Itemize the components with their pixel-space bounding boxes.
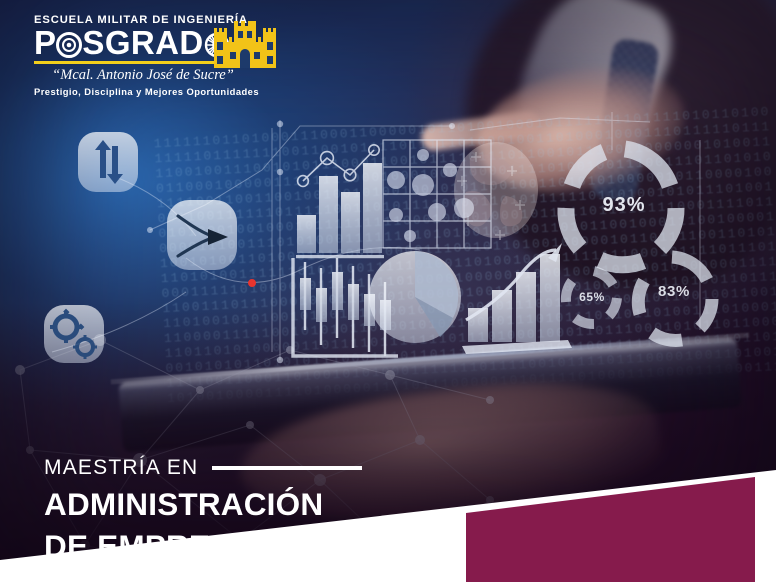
- promo-poster: 1111110110100011100011000001011010010001…: [0, 0, 776, 582]
- logo-wordmark-pre: P: [34, 26, 56, 60]
- logo-yellow-rule: [34, 61, 244, 64]
- program-kicker-row: MAESTRÍA EN: [44, 456, 362, 480]
- pie-chart: [369, 251, 461, 343]
- target-o-icon: [56, 30, 82, 56]
- gauge-65-label: 65%: [566, 290, 618, 304]
- transfer-arrows-icon: [78, 132, 138, 192]
- growth-bar-chart-with-arrow: [462, 243, 572, 354]
- logo-tagline: Prestigio, Disciplina y Mejores Oportuni…: [34, 86, 256, 97]
- program-kicker-rule: [212, 466, 362, 470]
- program-title-block: MAESTRÍA EN ADMINISTRACIÓN DE EMPRESAS: [44, 456, 362, 564]
- gauge-83-label: 83%: [650, 283, 698, 300]
- bar-chart-with-trend-line: [296, 145, 384, 258]
- gears-icon: [44, 305, 104, 363]
- emi-posgrado-logo: ESCUELA MILITAR DE INGENIERÍA P SGRAD: [34, 14, 270, 104]
- alert-dot-icon: [248, 279, 256, 287]
- program-kicker: MAESTRÍA EN: [44, 456, 198, 480]
- castle-fort-emblem: [214, 18, 276, 73]
- program-title-line1: ADMINISTRACIÓN: [44, 486, 362, 522]
- globe-icon: [454, 142, 538, 240]
- logo-wordmark-post: SGRAD: [82, 26, 203, 60]
- gauge-93-label: 93%: [596, 194, 652, 217]
- program-title-line2: DE EMPRESAS: [44, 528, 362, 564]
- merge-arrow-icon: [167, 200, 237, 270]
